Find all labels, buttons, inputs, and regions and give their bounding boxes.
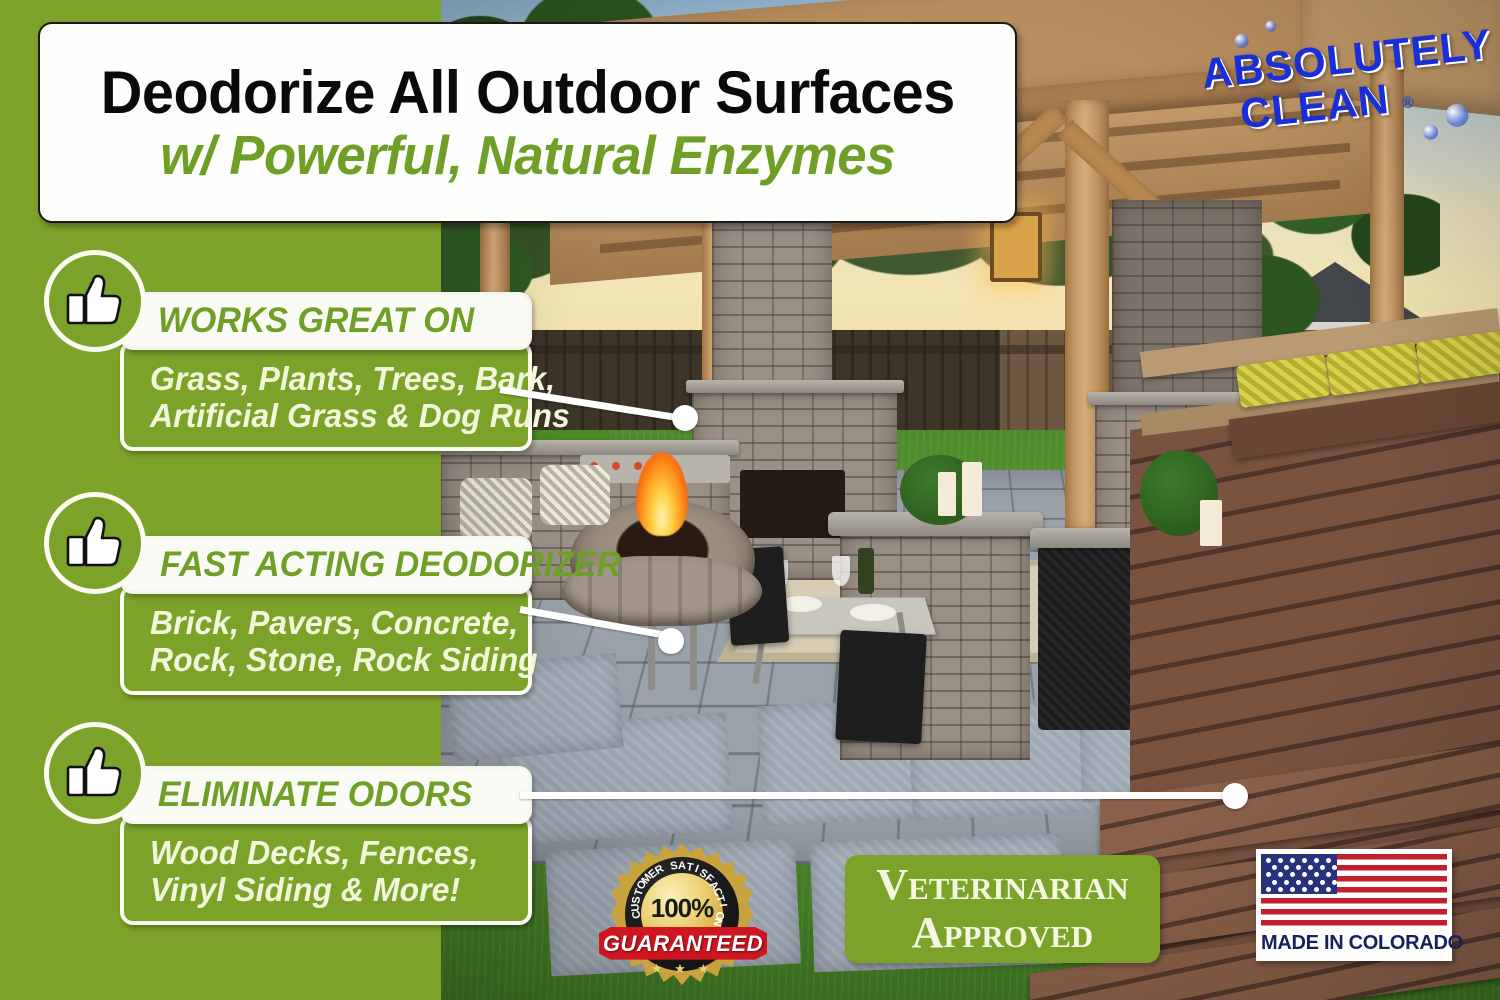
bubble-icon xyxy=(1422,124,1438,140)
flag-star xyxy=(1266,872,1271,877)
feature-body-line2: Rock, Stone, Rock Siding xyxy=(150,642,507,679)
callout-dot-1 xyxy=(672,405,698,431)
flag-star xyxy=(1284,880,1289,885)
flag-star xyxy=(1302,872,1307,877)
flag-star xyxy=(1296,880,1301,885)
feature-heading-text: FAST ACTING DEODORIZER xyxy=(160,545,621,585)
callout-leader-3 xyxy=(520,792,1235,799)
satisfaction-guarantee-seal: CUSTOMERSATISFACTION 100% GUARANTEED ★ ★… xyxy=(597,841,781,987)
callout-dot-3 xyxy=(1222,783,1248,809)
seal-percent: 100% xyxy=(641,893,723,924)
advertisement-banner: Deodorize All Outdoor Surfaces w/ Powerf… xyxy=(0,0,1500,1000)
registered-trademark-symbol: ® xyxy=(1401,94,1415,113)
us-flag-icon xyxy=(1261,854,1447,926)
thumbs-up-icon-2 xyxy=(44,492,146,594)
thumbs-up-icon-1 xyxy=(44,250,146,352)
flag-star xyxy=(1314,872,1319,877)
flag-star xyxy=(1308,880,1313,885)
feature-block-1: WORKS GREAT ON Grass, Plants, Trees, Bar… xyxy=(120,292,532,451)
feature-block-2: FAST ACTING DEODORIZER Brick, Pavers, Co… xyxy=(120,536,532,695)
thumbs-up-icon-3 xyxy=(44,722,146,824)
feature-body-line1: Wood Decks, Fences, xyxy=(150,835,507,872)
feature-heading-text: WORKS GREAT ON xyxy=(158,301,474,341)
flag-star xyxy=(1326,887,1331,892)
flag-star xyxy=(1314,858,1319,863)
feature-body-line2: Artificial Grass & Dog Runs xyxy=(150,398,507,435)
feature-body-3: Wood Decks, Fences, Vinyl Siding & More! xyxy=(120,815,532,925)
flag-star xyxy=(1302,858,1307,863)
callout-dot-2 xyxy=(658,628,684,654)
vet-line1: Veterinarian xyxy=(876,863,1128,907)
flag-star xyxy=(1326,858,1331,863)
flag-star xyxy=(1272,880,1277,885)
feature-body-line1: Grass, Plants, Trees, Bark, xyxy=(150,361,507,398)
headline-secondary: w/ Powerful, Natural Enzymes xyxy=(160,127,895,183)
flag-star xyxy=(1290,858,1295,863)
feature-body-2: Brick, Pavers, Concrete, Rock, Stone, Ro… xyxy=(120,585,532,695)
feature-heading-1: WORKS GREAT ON xyxy=(120,292,532,350)
feature-body-1: Grass, Plants, Trees, Bark, Artificial G… xyxy=(120,341,532,451)
flag-star xyxy=(1332,865,1337,870)
flag-star xyxy=(1296,865,1301,870)
feature-heading-3: ELIMINATE ODORS xyxy=(120,766,532,824)
ribbon-text: GUARANTEED xyxy=(599,927,767,961)
flag-canton xyxy=(1261,854,1337,894)
made-in-colorado-badge: MADE IN COLORADO xyxy=(1256,849,1452,961)
flag-star xyxy=(1320,880,1325,885)
flag-star xyxy=(1290,887,1295,892)
feature-block-3: ELIMINATE ODORS Wood Decks, Fences, Viny… xyxy=(120,766,532,925)
flag-star xyxy=(1326,872,1331,877)
flag-star xyxy=(1290,872,1295,877)
headline-banner: Deodorize All Outdoor Surfaces w/ Powerf… xyxy=(38,22,1017,223)
thumbs-up-glyph xyxy=(66,273,124,329)
veterinarian-approved-badge: Veterinarian Approved xyxy=(845,855,1160,963)
headline-primary: Deodorize All Outdoor Surfaces xyxy=(100,62,954,123)
flag-star xyxy=(1320,865,1325,870)
thumbs-up-glyph xyxy=(66,745,124,801)
flag-star xyxy=(1278,858,1283,863)
feature-heading-text: ELIMINATE ODORS xyxy=(158,775,472,815)
flag-star xyxy=(1308,865,1313,870)
feature-body-line2: Vinyl Siding & More! xyxy=(150,872,507,909)
seal-arc-char: T xyxy=(685,861,694,874)
flag-star xyxy=(1278,887,1283,892)
seal-stars: ★ ★ ★ xyxy=(649,961,715,977)
flag-star xyxy=(1266,858,1271,863)
thumbs-up-glyph xyxy=(66,515,124,571)
flag-star xyxy=(1314,887,1319,892)
feature-body-line1: Brick, Pavers, Concrete, xyxy=(150,605,507,642)
flag-star xyxy=(1302,887,1307,892)
flag-star xyxy=(1266,887,1271,892)
flag-star xyxy=(1332,880,1337,885)
guaranteed-ribbon: GUARANTEED xyxy=(599,927,767,961)
flag-star xyxy=(1272,865,1277,870)
flag-star xyxy=(1284,865,1289,870)
made-in-colorado-caption: MADE IN COLORADO xyxy=(1261,932,1447,955)
feature-heading-2: FAST ACTING DEODORIZER xyxy=(120,536,532,594)
flag-star xyxy=(1278,872,1283,877)
vet-line2: Approved xyxy=(912,911,1094,955)
